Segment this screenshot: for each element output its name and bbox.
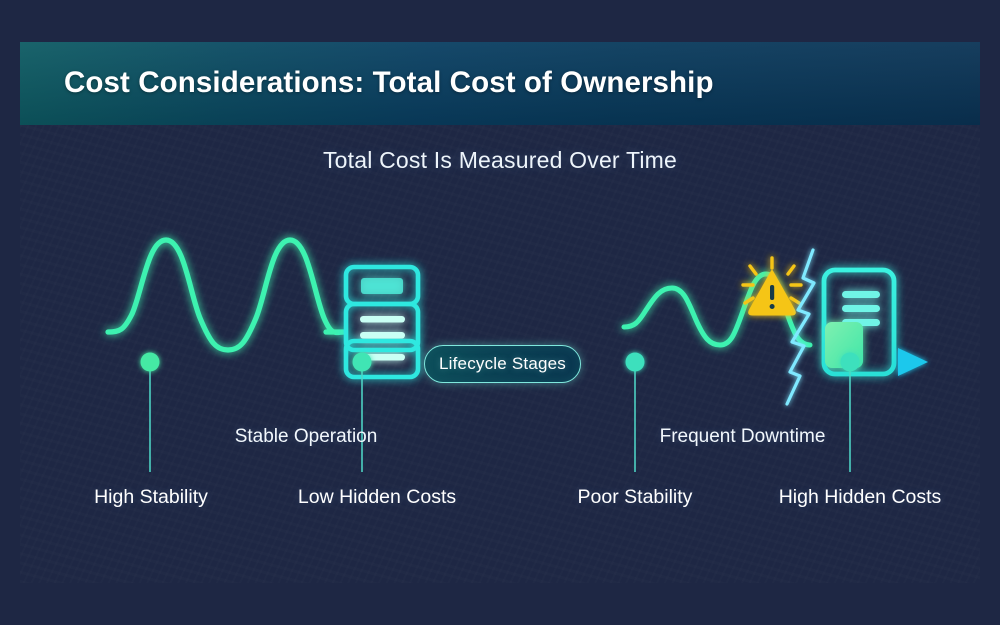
phase-label-frequent-downtime: Frequent Downtime xyxy=(615,426,870,448)
marker-dot-high-hidden-costs xyxy=(841,353,860,372)
screenshot-root: Cost Considerations: Total Cost of Owner… xyxy=(0,0,1000,625)
stable-sine-wave-icon xyxy=(108,240,344,350)
slide-canvas: Cost Considerations: Total Cost of Owner… xyxy=(20,42,980,583)
page-title: Cost Considerations: Total Cost of Owner… xyxy=(64,66,714,100)
marker-label-high-hidden-costs: High Hidden Costs xyxy=(735,486,980,509)
lifecycle-stages-label: Lifecycle Stages xyxy=(439,354,566,374)
timeline-arrow-head xyxy=(898,348,928,376)
lifecycle-stages-pill[interactable]: Lifecycle Stages xyxy=(424,345,581,383)
marker-dot-high-stability xyxy=(141,353,160,372)
marker-label-high-stability: High Stability xyxy=(20,486,282,509)
phase-label-stable-operation: Stable Operation xyxy=(176,426,436,448)
marker-label-low-hidden-costs: Low Hidden Costs xyxy=(250,486,504,509)
warning-triangle-icon xyxy=(743,258,801,315)
marker-label-poor-stability: Poor Stability xyxy=(515,486,755,509)
marker-dot-low-hidden-costs xyxy=(353,353,372,372)
marker-dot-poor-stability xyxy=(626,353,645,372)
